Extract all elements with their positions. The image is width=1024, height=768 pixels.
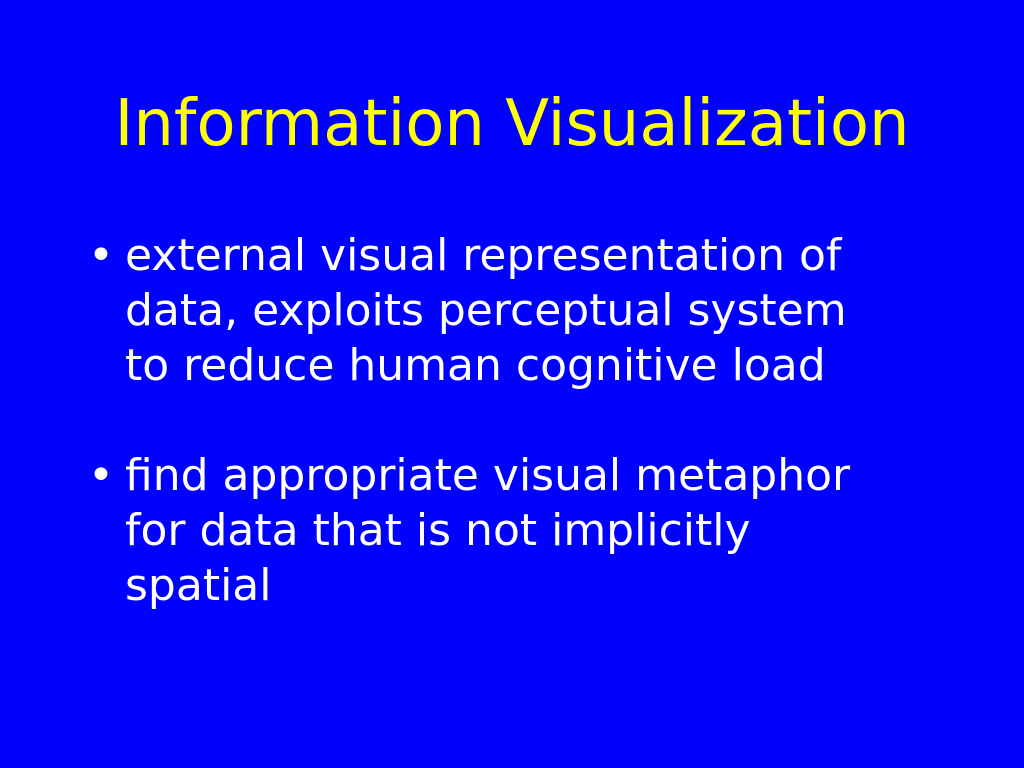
bullet-item-text: find appropriate visual metaphor for dat… — [125, 448, 900, 613]
bullet-point-icon: • — [88, 228, 125, 283]
presentation-slide: Information Visualization • external vis… — [0, 0, 1024, 768]
bullet-list-item: • find appropriate visual metaphor for d… — [88, 448, 918, 613]
bullet-item-text: external visual representation of data, … — [125, 228, 900, 393]
bullet-point-icon: • — [88, 448, 125, 503]
slide-title: Information Visualization — [0, 91, 1024, 158]
bullet-spacer — [88, 393, 918, 448]
bullet-list-item: • external visual representation of data… — [88, 228, 918, 393]
slide-body-content: • external visual representation of data… — [88, 228, 918, 613]
